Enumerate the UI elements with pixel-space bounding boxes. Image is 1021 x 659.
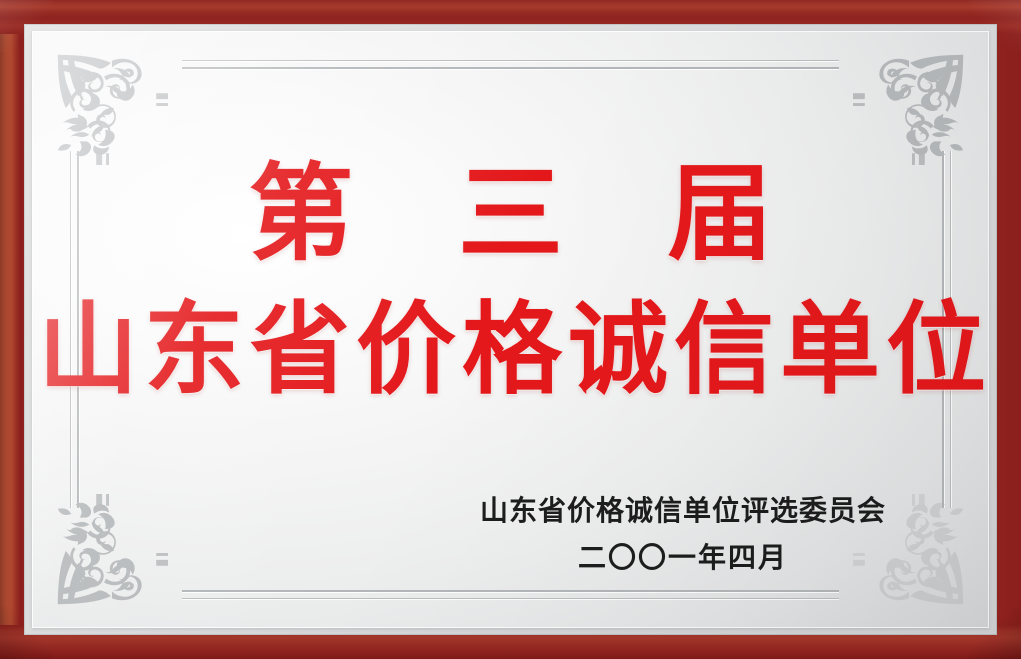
issue-date: 二〇〇一年四月: [473, 540, 893, 575]
plaque-plate: 第 三 届 山东省价格诚信单位 山东省价格诚信单位评选委员会 二〇〇一年四月: [32, 31, 989, 628]
border-rule-bottom-outer: [182, 598, 839, 599]
award-title-line-2: 山东省价格诚信单位: [32, 299, 989, 399]
issuing-organization: 山东省价格诚信单位评选委员会: [473, 493, 893, 528]
award-plaque: 第 三 届 山东省价格诚信单位 山东省价格诚信单位评选委员会 二〇〇一年四月: [0, 0, 1021, 659]
border-rule-top-inner: [182, 67, 839, 69]
border-rule-bottom-inner: [182, 590, 839, 592]
corner-flourish-icon: [853, 47, 971, 165]
award-title-line-1: 第 三 届: [32, 161, 989, 266]
signature-block: 山东省价格诚信单位评选委员会 二〇〇一年四月: [473, 493, 893, 575]
corner-flourish-icon: [50, 47, 168, 165]
border-rule-top-outer: [182, 60, 839, 61]
corner-flourish-icon: [50, 494, 168, 612]
